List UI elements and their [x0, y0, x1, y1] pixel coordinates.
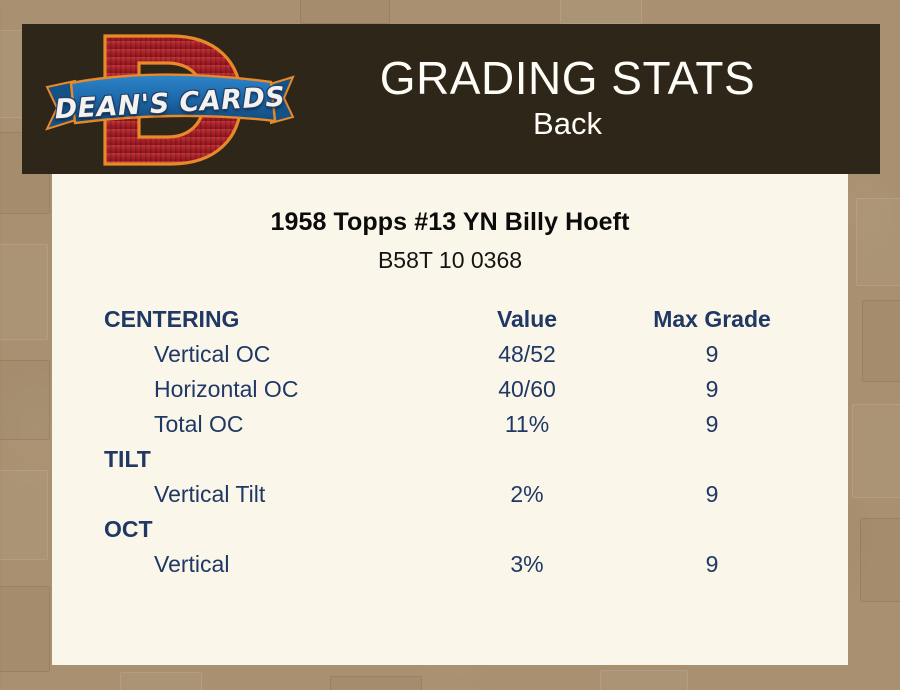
row-label: Total OC — [102, 407, 432, 442]
content-panel: 1958 Topps #13 YN Billy Hoeft B58T 10 03… — [52, 174, 848, 665]
row-value: 48/52 — [432, 337, 622, 372]
table-header: CENTERING Value Max Grade — [102, 302, 802, 337]
page-subtitle: Back — [295, 105, 840, 144]
table-header-row: CENTERING Value Max Grade — [102, 302, 802, 337]
row-max-grade: 9 — [622, 477, 802, 512]
logo-wordmark: DEAN'S CARDS — [43, 62, 296, 144]
row-value: 2% — [432, 477, 622, 512]
grading-stats-table: CENTERING Value Max Grade Vertical OC 48… — [102, 302, 802, 582]
table-row: Vertical OC 48/52 9 — [102, 337, 802, 372]
section-spacer — [622, 512, 802, 547]
row-max-grade: 9 — [622, 372, 802, 407]
row-label: Vertical OC — [102, 337, 432, 372]
section-header-tilt: TILT — [102, 442, 432, 477]
table-body: Vertical OC 48/52 9 Horizontal OC 40/60 … — [102, 337, 802, 582]
section-spacer — [622, 442, 802, 477]
table-row: Vertical 3% 9 — [102, 547, 802, 582]
row-max-grade: 9 — [622, 547, 802, 582]
row-max-grade: 9 — [622, 407, 802, 442]
column-header-centering: CENTERING — [102, 302, 432, 337]
page-title: GRADING STATS — [295, 55, 840, 103]
table-row: Total OC 11% 9 — [102, 407, 802, 442]
row-label: Vertical — [102, 547, 432, 582]
table-section-row: TILT — [102, 442, 802, 477]
row-value: 3% — [432, 547, 622, 582]
header-bar: DEAN'S CARDS GRADING STATS Back — [22, 24, 880, 174]
table-row: Horizontal OC 40/60 9 — [102, 372, 802, 407]
section-header-oct: OCT — [102, 512, 432, 547]
column-header-value: Value — [432, 302, 622, 337]
card-title: 1958 Topps #13 YN Billy Hoeft — [52, 174, 848, 237]
row-max-grade: 9 — [622, 337, 802, 372]
deans-cards-logo[interactable]: DEAN'S CARDS — [45, 29, 295, 169]
table-row: Vertical Tilt 2% 9 — [102, 477, 802, 512]
row-value: 40/60 — [432, 372, 622, 407]
row-label: Horizontal OC — [102, 372, 432, 407]
section-spacer — [432, 512, 622, 547]
column-header-max-grade: Max Grade — [622, 302, 802, 337]
card-serial-number: B58T 10 0368 — [52, 237, 848, 274]
table-section-row: OCT — [102, 512, 802, 547]
header-title-block: GRADING STATS Back — [295, 55, 880, 144]
grading-stats-page: DEAN'S CARDS GRADING STATS Back 1958 Top… — [0, 0, 900, 690]
row-label: Vertical Tilt — [102, 477, 432, 512]
section-spacer — [432, 442, 622, 477]
row-value: 11% — [432, 407, 622, 442]
